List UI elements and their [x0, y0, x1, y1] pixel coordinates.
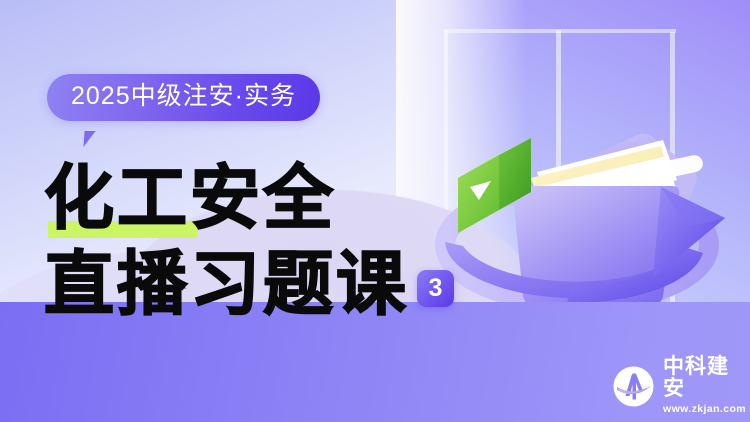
course-promo-banner: 2025中级注安·实务 化工安全 直播习题课 3 中科建安 www.zkjan.…	[0, 0, 750, 422]
brand-text: 中科建安 www.zkjan.com	[663, 356, 750, 416]
badge-pill-tail	[83, 131, 106, 147]
page-title-line2-row: 直播习题课 3	[44, 246, 454, 326]
brand-name: 中科建安	[663, 356, 750, 400]
course-category-badge: 2025中级注安·实务	[47, 74, 320, 121]
illustration-svg	[415, 10, 750, 350]
brand-url: www.zkjan.com	[663, 402, 750, 416]
episode-number-badge: 3	[417, 270, 454, 307]
page-title-line1: 化工安全	[44, 154, 336, 246]
hero-illustration	[415, 10, 750, 350]
brand-logo[interactable]: 中科建安 www.zkjan.com	[612, 356, 750, 416]
zkjan-circle-logo-icon	[612, 365, 655, 408]
page-title-line2: 直播习题课	[44, 246, 409, 326]
